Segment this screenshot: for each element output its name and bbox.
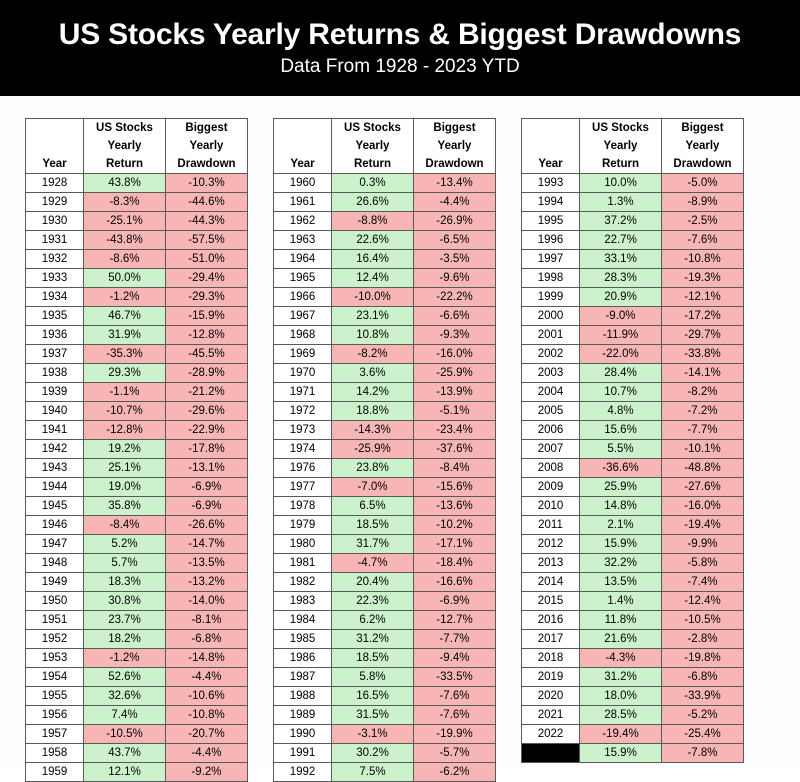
cell-year: 1958 [26, 744, 84, 763]
cell-yearly-return: -1.2% [84, 649, 166, 668]
cell-yearly-return: 43.8% [84, 174, 166, 193]
cell-yearly-return: 26.6% [332, 193, 414, 212]
cell-year: 1938 [26, 364, 84, 383]
table-row: 19703.6%-25.9% [274, 364, 496, 383]
cell-biggest-drawdown: -44.6% [166, 193, 248, 212]
cell-biggest-drawdown: -6.9% [414, 592, 496, 611]
cell-yearly-return: 18.8% [332, 402, 414, 421]
cell-yearly-return: 7.5% [332, 763, 414, 782]
table-row: 20054.8%-7.2% [522, 402, 744, 421]
table-row: 192843.8%-10.3% [26, 174, 248, 193]
cell-biggest-drawdown: -16.6% [414, 573, 496, 592]
cell-year: 1991 [274, 744, 332, 763]
cell-yearly-return: 15.9% [580, 744, 662, 763]
cell-yearly-return: 4.8% [580, 402, 662, 421]
cell-year: 1996 [522, 231, 580, 250]
cell-year: 1930 [26, 212, 84, 231]
cell-year: 1978 [274, 497, 332, 516]
cell-biggest-drawdown: -3.5% [414, 250, 496, 269]
cell-year: 1941 [26, 421, 84, 440]
cell-biggest-drawdown: -6.5% [414, 231, 496, 250]
cell-biggest-drawdown: -12.1% [662, 288, 744, 307]
cell-yearly-return: 31.7% [332, 535, 414, 554]
cell-biggest-drawdown: -13.2% [166, 573, 248, 592]
cell-biggest-drawdown: -15.9% [166, 307, 248, 326]
cell-biggest-drawdown: -14.8% [166, 649, 248, 668]
cell-year: 1977 [274, 478, 332, 497]
cell-year: 1943 [26, 459, 84, 478]
cell-yearly-return: 37.2% [580, 212, 662, 231]
table-row: 19875.8%-33.5% [274, 668, 496, 687]
table-body-3: 199310.0%-5.0%19941.3%-8.9%199537.2%-2.5… [522, 174, 744, 763]
cell-biggest-drawdown: -4.4% [166, 744, 248, 763]
table-row: 1957-10.5%-20.7% [26, 725, 248, 744]
cell-yearly-return: -3.1% [332, 725, 414, 744]
cell-yearly-return: 12.4% [332, 269, 414, 288]
cell-year: 1969 [274, 345, 332, 364]
table-row: 19600.3%-13.4% [274, 174, 496, 193]
table-row: 196723.1%-6.6% [274, 307, 496, 326]
cell-yearly-return: 35.8% [84, 497, 166, 516]
cell-yearly-return: 21.6% [580, 630, 662, 649]
header-line-1: Biggest [166, 119, 247, 137]
cell-yearly-return: 11.8% [580, 611, 662, 630]
cell-yearly-return: 15.6% [580, 421, 662, 440]
cell-yearly-return: 12.1% [84, 763, 166, 782]
cell-yearly-return: 31.5% [332, 706, 414, 725]
cell-year: 2002 [522, 345, 580, 364]
cell-biggest-drawdown: -6.2% [414, 763, 496, 782]
cell-year: 1963 [274, 231, 332, 250]
cell-biggest-drawdown: -19.3% [662, 269, 744, 288]
cell-yearly-return: -10.7% [84, 402, 166, 421]
cell-year: 1952 [26, 630, 84, 649]
table-header-3: Year US Stocks Yearly Return Biggest Yea… [522, 119, 744, 174]
table-row: 1937-35.3%-45.5% [26, 345, 248, 364]
cell-year: 1932 [26, 250, 84, 269]
table-row: 196416.4%-3.5% [274, 250, 496, 269]
cell-biggest-drawdown: -8.9% [662, 193, 744, 212]
cell-year: 1942 [26, 440, 84, 459]
header-line-2: Yearly [414, 137, 495, 155]
cell-biggest-drawdown: -48.8% [662, 459, 744, 478]
table-row: 1932-8.6%-51.0% [26, 250, 248, 269]
header-line-1: US Stocks [84, 119, 165, 137]
cell-year: 2003 [522, 364, 580, 383]
cell-yearly-return: 18.5% [332, 649, 414, 668]
cell-yearly-return: 1.3% [580, 193, 662, 212]
cell-year: 1933 [26, 269, 84, 288]
cell-yearly-return: 28.5% [580, 706, 662, 725]
cell-year: 1931 [26, 231, 84, 250]
table-row: 197918.5%-10.2% [274, 516, 496, 535]
table-row: 199733.1%-10.8% [522, 250, 744, 269]
table-row: 1974-25.9%-37.6% [274, 440, 496, 459]
table-row: 199828.3%-19.3% [522, 269, 744, 288]
cell-biggest-drawdown: -13.6% [414, 497, 496, 516]
cell-year: 1954 [26, 668, 84, 687]
cell-biggest-drawdown: -5.0% [662, 174, 744, 193]
column-header-year: Year [26, 119, 84, 174]
cell-biggest-drawdown: -17.1% [414, 535, 496, 554]
cell-year: 1994 [522, 193, 580, 212]
cell-yearly-return: 14.2% [332, 383, 414, 402]
table-row: 194918.3%-13.2% [26, 573, 248, 592]
header-line-3: Drawdown [662, 155, 743, 173]
cell-biggest-drawdown: -7.8% [662, 744, 744, 763]
cell-biggest-drawdown: -19.8% [662, 649, 744, 668]
table-row: 2001-11.9%-29.7% [522, 326, 744, 345]
table-row: 201332.2%-5.8% [522, 554, 744, 573]
cell-yearly-return: 23.8% [332, 459, 414, 478]
cell-year: 1962 [274, 212, 332, 231]
cell-yearly-return: -25.1% [84, 212, 166, 231]
table-row: 195030.8%-14.0% [26, 592, 248, 611]
cell-yearly-return: -1.1% [84, 383, 166, 402]
cell-biggest-drawdown: -10.3% [166, 174, 248, 193]
column-header-year: Year [274, 119, 332, 174]
cell-yearly-return: 31.2% [332, 630, 414, 649]
cell-yearly-return: -19.4% [580, 725, 662, 744]
cell-biggest-drawdown: -21.2% [166, 383, 248, 402]
cell-biggest-drawdown: -14.0% [166, 592, 248, 611]
table-row: 194219.2%-17.8% [26, 440, 248, 459]
cell-yearly-return: 31.2% [580, 668, 662, 687]
cell-year: 1983 [274, 592, 332, 611]
cell-biggest-drawdown: -9.3% [414, 326, 496, 345]
table-row: 1941-12.8%-22.9% [26, 421, 248, 440]
table-row: 195218.2%-6.8% [26, 630, 248, 649]
cell-year: 1944 [26, 478, 84, 497]
cell-biggest-drawdown: -13.1% [166, 459, 248, 478]
cell-biggest-drawdown: -16.0% [662, 497, 744, 516]
table-row: 196322.6%-6.5% [274, 231, 496, 250]
cell-year: 1953 [26, 649, 84, 668]
cell-yearly-return: -43.8% [84, 231, 166, 250]
cell-biggest-drawdown: -6.9% [166, 478, 248, 497]
cell-yearly-return: 30.2% [332, 744, 414, 763]
cell-yearly-return: -36.6% [580, 459, 662, 478]
cell-biggest-drawdown: -9.4% [414, 649, 496, 668]
table-row: 2000-9.0%-17.2% [522, 307, 744, 326]
cell-yearly-return: 10.7% [580, 383, 662, 402]
header-line-1: Biggest [662, 119, 743, 137]
cell-yearly-return: -7.0% [332, 478, 414, 497]
cell-year: 1985 [274, 630, 332, 649]
cell-yearly-return: -8.4% [84, 516, 166, 535]
cell-biggest-drawdown: -6.8% [166, 630, 248, 649]
table-row: 195912.1%-9.2% [26, 763, 248, 782]
cell-year: 1957 [26, 725, 84, 744]
cell-biggest-drawdown: -8.2% [662, 383, 744, 402]
cell-biggest-drawdown: -29.7% [662, 326, 744, 345]
cell-yearly-return: -10.0% [332, 288, 414, 307]
cell-yearly-return: 33.1% [580, 250, 662, 269]
cell-year: 2005 [522, 402, 580, 421]
column-header-year: Year [522, 119, 580, 174]
cell-biggest-drawdown: -14.7% [166, 535, 248, 554]
cell-biggest-drawdown: -19.4% [662, 516, 744, 535]
cell-year: 1936 [26, 326, 84, 345]
cell-yearly-return: 31.9% [84, 326, 166, 345]
cell-year: 1946 [26, 516, 84, 535]
returns-table-2: Year US Stocks Yearly Return Biggest Yea… [273, 118, 496, 782]
cell-year-highlighted: 2023 [522, 744, 580, 763]
cell-biggest-drawdown: -45.5% [166, 345, 248, 364]
cell-yearly-return: 2.1% [580, 516, 662, 535]
header-line-1: US Stocks [580, 119, 661, 137]
cell-year: 1961 [274, 193, 332, 212]
table-row: 1962-8.8%-26.9% [274, 212, 496, 231]
table-row: 20151.4%-12.4% [522, 592, 744, 611]
table-row: 199537.2%-2.5% [522, 212, 744, 231]
cell-biggest-drawdown: -33.8% [662, 345, 744, 364]
table-row: 198322.3%-6.9% [274, 592, 496, 611]
table-row: 198931.5%-7.6% [274, 706, 496, 725]
table-row: 19786.5%-13.6% [274, 497, 496, 516]
cell-biggest-drawdown: -17.8% [166, 440, 248, 459]
table-row: 1939-1.1%-21.2% [26, 383, 248, 402]
cell-year: 1965 [274, 269, 332, 288]
cell-yearly-return: 18.0% [580, 687, 662, 706]
cell-biggest-drawdown: -12.8% [166, 326, 248, 345]
cell-year: 2021 [522, 706, 580, 725]
table-row: 1981-4.7%-18.4% [274, 554, 496, 573]
cell-biggest-drawdown: -10.5% [662, 611, 744, 630]
cell-yearly-return: 6.2% [332, 611, 414, 630]
cell-biggest-drawdown: -33.9% [662, 687, 744, 706]
cell-year: 1987 [274, 668, 332, 687]
cell-biggest-drawdown: -2.5% [662, 212, 744, 231]
cell-biggest-drawdown: -13.5% [166, 554, 248, 573]
cell-biggest-drawdown: -5.1% [414, 402, 496, 421]
cell-yearly-return: -8.8% [332, 212, 414, 231]
cell-year: 1939 [26, 383, 84, 402]
cell-biggest-drawdown: -6.9% [166, 497, 248, 516]
cell-year: 1940 [26, 402, 84, 421]
cell-biggest-drawdown: -28.9% [166, 364, 248, 383]
column-header-drawdown: Biggest Yearly Drawdown [662, 119, 744, 174]
table-row: 195123.7%-8.1% [26, 611, 248, 630]
table-row: 2002-22.0%-33.8% [522, 345, 744, 364]
table-row: 201413.5%-7.4% [522, 573, 744, 592]
cell-biggest-drawdown: -12.7% [414, 611, 496, 630]
cell-biggest-drawdown: -7.7% [662, 421, 744, 440]
table-row: 1990-3.1%-19.9% [274, 725, 496, 744]
cell-yearly-return: 10.8% [332, 326, 414, 345]
cell-yearly-return: 20.9% [580, 288, 662, 307]
table-row: 2018-4.3%-19.8% [522, 649, 744, 668]
table-row: 19485.7%-13.5% [26, 554, 248, 573]
table-row: 1929-8.3%-44.6% [26, 193, 248, 212]
cell-year: 1986 [274, 649, 332, 668]
table-row: 197218.8%-5.1% [274, 402, 496, 421]
cell-biggest-drawdown: -29.3% [166, 288, 248, 307]
table-row: 198618.5%-9.4% [274, 649, 496, 668]
table-row: 20075.5%-10.1% [522, 440, 744, 459]
cell-yearly-return: -22.0% [580, 345, 662, 364]
cell-year: 1997 [522, 250, 580, 269]
table-row: 195452.6%-4.4% [26, 668, 248, 687]
cell-year: 1980 [274, 535, 332, 554]
column-header-drawdown: Biggest Yearly Drawdown [166, 119, 248, 174]
cell-biggest-drawdown: -7.4% [662, 573, 744, 592]
table-row: 201931.2%-6.8% [522, 668, 744, 687]
cell-yearly-return: 5.2% [84, 535, 166, 554]
cell-biggest-drawdown: -44.3% [166, 212, 248, 231]
cell-year: 2008 [522, 459, 580, 478]
cell-yearly-return: -25.9% [332, 440, 414, 459]
table-row: 200410.7%-8.2% [522, 383, 744, 402]
cell-yearly-return: 19.2% [84, 440, 166, 459]
cell-biggest-drawdown: -14.1% [662, 364, 744, 383]
table-block-1: Year US Stocks Yearly Return Biggest Yea… [25, 118, 248, 768]
cell-yearly-return: 10.0% [580, 174, 662, 193]
cell-year: 1935 [26, 307, 84, 326]
cell-biggest-drawdown: -10.8% [166, 706, 248, 725]
cell-year: 1989 [274, 706, 332, 725]
cell-year: 1999 [522, 288, 580, 307]
table-row: 1977-7.0%-15.6% [274, 478, 496, 497]
cell-biggest-drawdown: -29.6% [166, 402, 248, 421]
cell-year: 2007 [522, 440, 580, 459]
table-body-2: 19600.3%-13.4%196126.6%-4.4%1962-8.8%-26… [274, 174, 496, 782]
cell-year: 1979 [274, 516, 332, 535]
cell-yearly-return: -4.7% [332, 554, 414, 573]
cell-year: 2004 [522, 383, 580, 402]
cell-yearly-return: 28.4% [580, 364, 662, 383]
table-row: 1973-14.3%-23.4% [274, 421, 496, 440]
header-line-2: Yearly [662, 137, 743, 155]
cell-year: 2016 [522, 611, 580, 630]
cell-biggest-drawdown: -16.0% [414, 345, 496, 364]
table-row: 19927.5%-6.2% [274, 763, 496, 782]
cell-biggest-drawdown: -6.6% [414, 307, 496, 326]
cell-yearly-return: 5.5% [580, 440, 662, 459]
table-row: 1940-10.7%-29.6% [26, 402, 248, 421]
cell-yearly-return: 3.6% [332, 364, 414, 383]
table-row: 199310.0%-5.0% [522, 174, 744, 193]
table-row: 197114.2%-13.9% [274, 383, 496, 402]
table-row: 193350.0%-29.4% [26, 269, 248, 288]
cell-yearly-return: 16.5% [332, 687, 414, 706]
cell-biggest-drawdown: -8.4% [414, 459, 496, 478]
tables-container: Year US Stocks Yearly Return Biggest Yea… [0, 96, 800, 768]
cell-yearly-return: 5.7% [84, 554, 166, 573]
cell-yearly-return: 25.1% [84, 459, 166, 478]
cell-year: 1929 [26, 193, 84, 212]
cell-yearly-return: 30.8% [84, 592, 166, 611]
column-header-return: US Stocks Yearly Return [580, 119, 662, 174]
cell-yearly-return: 29.3% [84, 364, 166, 383]
table-row: 193829.3%-28.9% [26, 364, 248, 383]
cell-year: 1976 [274, 459, 332, 478]
table-row: 1969-8.2%-16.0% [274, 345, 496, 364]
cell-yearly-return: 20.4% [332, 573, 414, 592]
table-row: 2008-36.6%-48.8% [522, 459, 744, 478]
table-row: 198531.2%-7.7% [274, 630, 496, 649]
cell-year: 1973 [274, 421, 332, 440]
cell-year: 1928 [26, 174, 84, 193]
table-row: 195532.6%-10.6% [26, 687, 248, 706]
cell-biggest-drawdown: -13.4% [414, 174, 496, 193]
table-row: 19567.4%-10.8% [26, 706, 248, 725]
cell-biggest-drawdown: -51.0% [166, 250, 248, 269]
cell-yearly-return: 6.5% [332, 497, 414, 516]
cell-yearly-return: -35.3% [84, 345, 166, 364]
header-line-2: Yearly [580, 137, 661, 155]
cell-year: 2011 [522, 516, 580, 535]
cell-biggest-drawdown: -20.7% [166, 725, 248, 744]
cell-biggest-drawdown: -7.6% [414, 687, 496, 706]
header-line-3: Return [580, 155, 661, 173]
cell-yearly-return: -8.6% [84, 250, 166, 269]
cell-biggest-drawdown: -26.6% [166, 516, 248, 535]
cell-year: 2009 [522, 478, 580, 497]
cell-year: 1995 [522, 212, 580, 231]
table-body-1: 192843.8%-10.3%1929-8.3%-44.6%1930-25.1%… [26, 174, 248, 782]
table-row: 19475.2%-14.7% [26, 535, 248, 554]
cell-year: 1948 [26, 554, 84, 573]
returns-table-3: Year US Stocks Yearly Return Biggest Yea… [521, 118, 744, 763]
table-row: 202018.0%-33.9% [522, 687, 744, 706]
cell-biggest-drawdown: -9.9% [662, 535, 744, 554]
table-row: 197623.8%-8.4% [274, 459, 496, 478]
header-line-3: Drawdown [166, 155, 247, 173]
table-block-3: Year US Stocks Yearly Return Biggest Yea… [521, 118, 744, 768]
cell-yearly-return: 13.5% [580, 573, 662, 592]
cell-year: 1970 [274, 364, 332, 383]
table-row: 202315.9%-7.8% [522, 744, 744, 763]
table-row: 198816.5%-7.6% [274, 687, 496, 706]
cell-yearly-return: 22.7% [580, 231, 662, 250]
cell-biggest-drawdown: -33.5% [414, 668, 496, 687]
cell-biggest-drawdown: -9.2% [166, 763, 248, 782]
cell-year: 1951 [26, 611, 84, 630]
cell-biggest-drawdown: -23.4% [414, 421, 496, 440]
table-row: 199920.9%-12.1% [522, 288, 744, 307]
table-row: 196512.4%-9.6% [274, 269, 496, 288]
cell-yearly-return: 32.6% [84, 687, 166, 706]
cell-yearly-return: 15.9% [580, 535, 662, 554]
cell-year: 1992 [274, 763, 332, 782]
column-header-return: US Stocks Yearly Return [332, 119, 414, 174]
cell-year: 2014 [522, 573, 580, 592]
cell-yearly-return: 18.2% [84, 630, 166, 649]
cell-yearly-return: -12.8% [84, 421, 166, 440]
table-row: 1934-1.2%-29.3% [26, 288, 248, 307]
cell-yearly-return: -9.0% [580, 307, 662, 326]
cell-biggest-drawdown: -7.6% [414, 706, 496, 725]
table-row: 20112.1%-19.4% [522, 516, 744, 535]
table-row: 201721.6%-2.8% [522, 630, 744, 649]
table-row: 1930-25.1%-44.3% [26, 212, 248, 231]
cell-year: 1990 [274, 725, 332, 744]
page-subtitle: Data From 1928 - 2023 YTD [280, 55, 519, 79]
cell-yearly-return: 28.3% [580, 269, 662, 288]
table-row: 200615.6%-7.7% [522, 421, 744, 440]
header-row: Year US Stocks Yearly Return Biggest Yea… [26, 119, 248, 174]
table-row: 194419.0%-6.9% [26, 478, 248, 497]
table-row: 19941.3%-8.9% [522, 193, 744, 212]
cell-biggest-drawdown: -10.8% [662, 250, 744, 269]
table-row: 193546.7%-15.9% [26, 307, 248, 326]
cell-yearly-return: 5.8% [332, 668, 414, 687]
table-row: 1946-8.4%-26.6% [26, 516, 248, 535]
table-row: 201611.8%-10.5% [522, 611, 744, 630]
cell-year: 2015 [522, 592, 580, 611]
cell-year: 1949 [26, 573, 84, 592]
